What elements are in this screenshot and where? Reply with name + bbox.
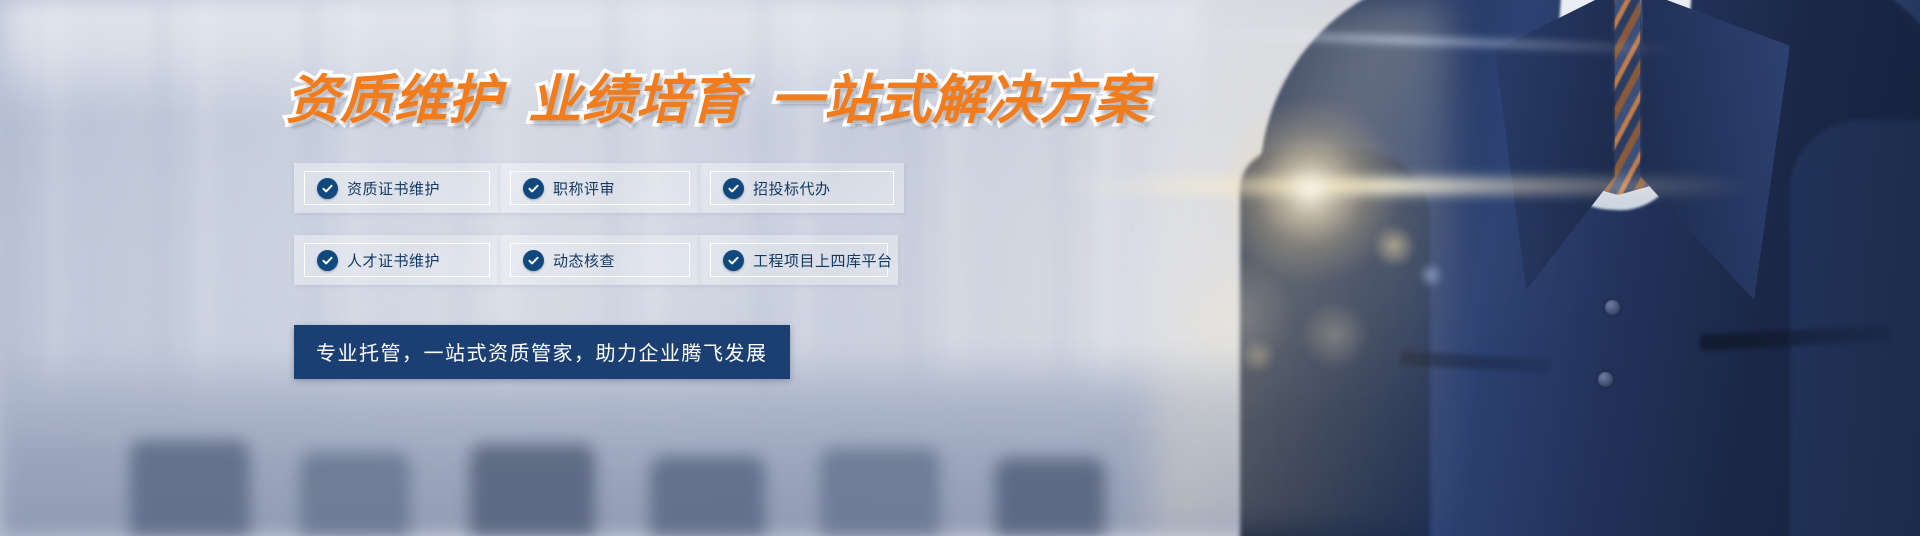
tagline-bar: 专业托管，一站式资质管家，助力企业腾飞发展 xyxy=(294,325,790,379)
feature-card[interactable]: 动态核查 xyxy=(500,235,700,285)
check-circle-icon xyxy=(317,250,338,271)
feature-card[interactable]: 工程项目上四库平台 xyxy=(700,235,898,285)
check-circle-icon xyxy=(523,250,544,271)
feature-card[interactable]: 职称评审 xyxy=(500,163,700,213)
hero-banner: 资质维护业绩培育一站式解决方案 资质证书维护 职称评审 xyxy=(0,0,1920,536)
feature-card[interactable]: 招投标代办 xyxy=(700,163,904,213)
feature-label: 职称评审 xyxy=(553,178,615,199)
check-circle-icon xyxy=(723,250,744,271)
feature-label: 资质证书维护 xyxy=(347,178,440,199)
headline-segment-2: 业绩培育 xyxy=(528,70,744,131)
check-circle-icon xyxy=(723,178,744,199)
feature-label: 工程项目上四库平台 xyxy=(753,250,893,271)
feature-card[interactable]: 资质证书维护 xyxy=(294,163,500,213)
feature-grid: 资质证书维护 职称评审 招投标代办 xyxy=(294,163,904,285)
page-title: 资质维护业绩培育一站式解决方案 xyxy=(286,74,1148,127)
headline-segment-3: 一站式解决方案 xyxy=(770,70,1148,131)
check-circle-icon xyxy=(523,178,544,199)
feature-label: 动态核查 xyxy=(553,250,615,271)
check-circle-icon xyxy=(317,178,338,199)
headline-segment-1: 资质维护 xyxy=(286,70,502,131)
feature-label: 人才证书维护 xyxy=(347,250,440,271)
feature-label: 招投标代办 xyxy=(753,178,831,199)
feature-card[interactable]: 人才证书维护 xyxy=(294,235,500,285)
